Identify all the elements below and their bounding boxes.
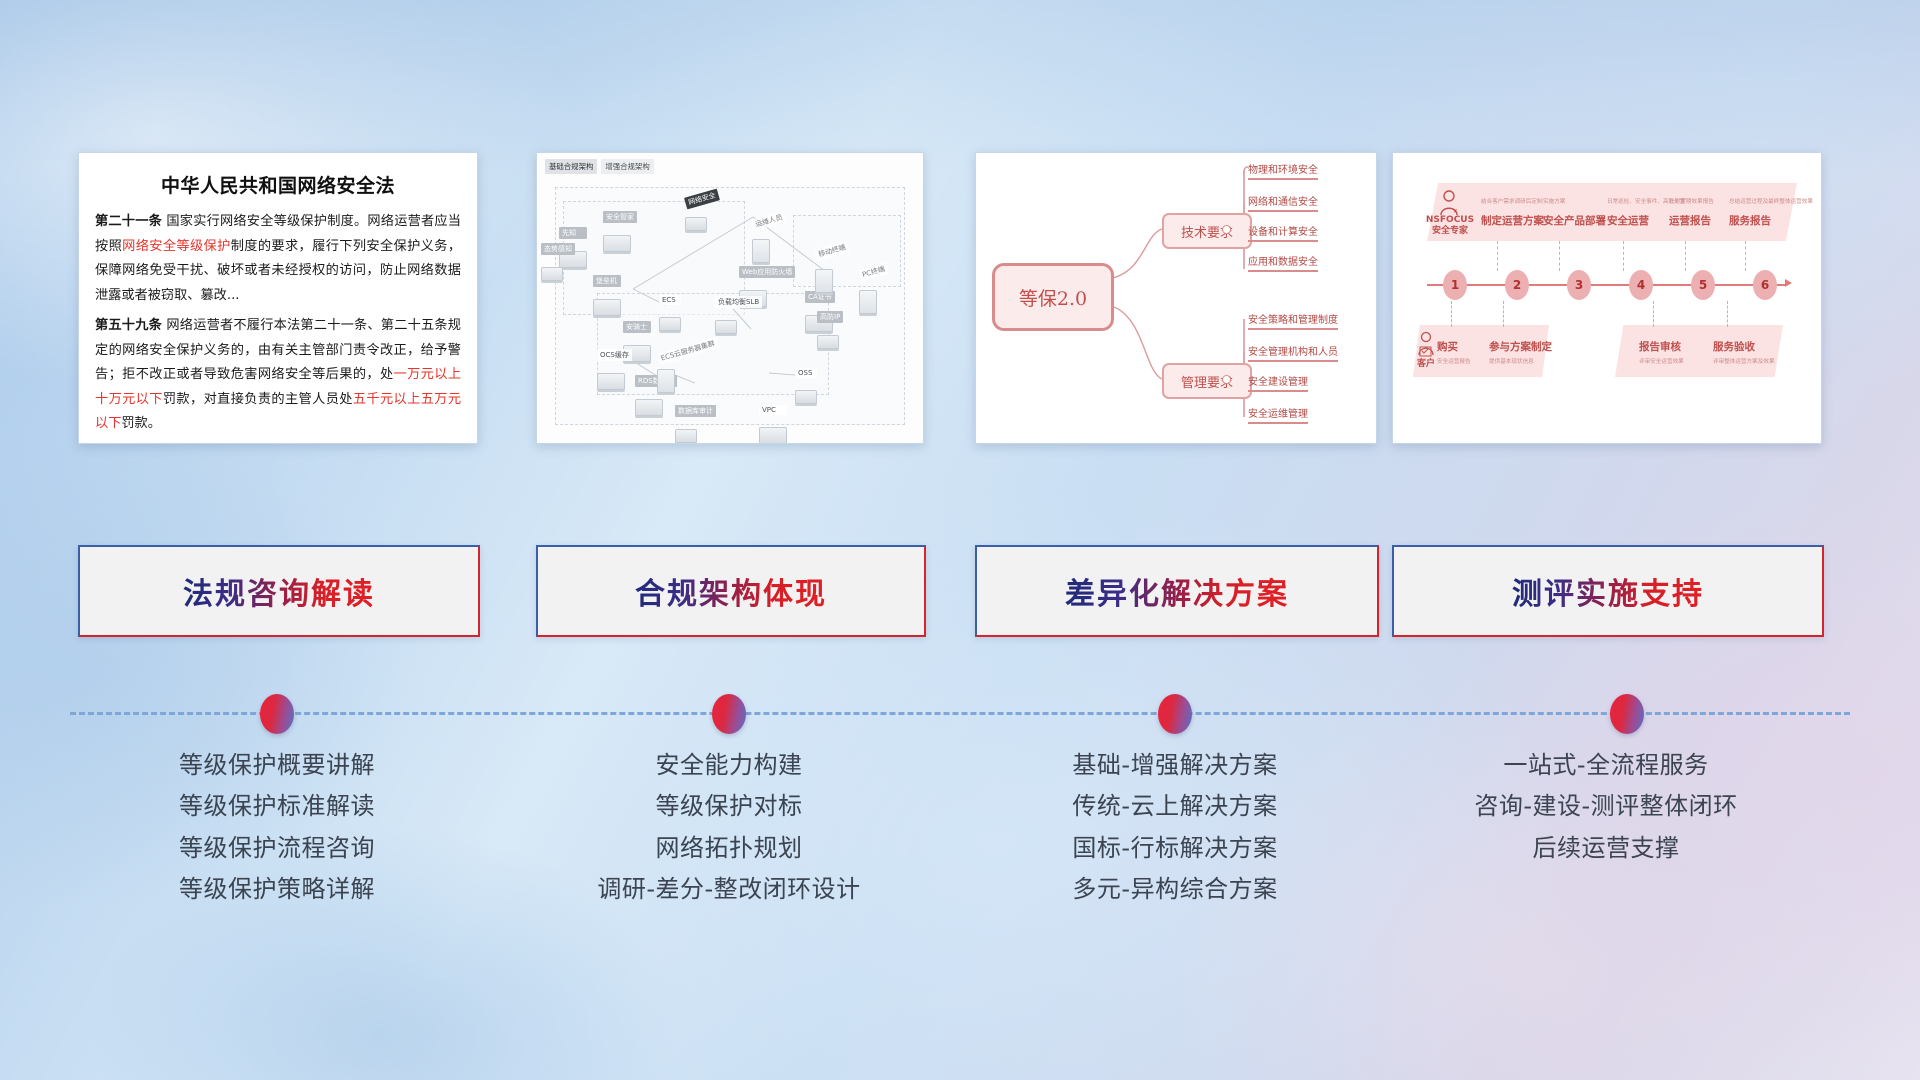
arch-node-icon-7 (597, 373, 625, 390)
law-article-21: 第二十一条 国家实行网络安全等级保护制度。网络运营者应当按照网络安全等级保护制度… (95, 210, 461, 308)
arch-tab-enhanced[interactable]: 增强合规架构 (601, 159, 653, 174)
stage-label-row: 法规咨询解读 合规架构体现 差异化解决方案 测评实施支持 (0, 545, 1920, 645)
arch-node-icon-4 (593, 299, 621, 316)
arch-node-icon-19 (759, 427, 787, 444)
stage-label-1[interactable]: 法规咨询解读 (78, 545, 480, 637)
mindmap-leaf-mgmt-1: 安全策略和管理制度 (1248, 311, 1338, 330)
arch-node-label-5: 安骑士 (623, 321, 651, 333)
article-59-part-4: 罚款。 (121, 416, 161, 431)
nsfocus-bottom-connector-2 (1653, 301, 1655, 327)
arch-node-9: 数据库审计 (675, 405, 716, 443)
arch-node-label-3: 态势感知 (541, 243, 575, 255)
nsfocus-top-heading-0: 制定运营方案 (1481, 213, 1544, 228)
arch-node-16: 移动终端 (815, 245, 849, 293)
arch-node-icon-0 (685, 217, 707, 231)
timeline-dot-3[interactable] (1158, 694, 1192, 734)
timeline-step-4[interactable]: 4 (1629, 270, 1653, 300)
nsfocus-bottom-heading-1: 参与方案制定 (1489, 339, 1552, 354)
arch-node-label-2: 先知 (559, 227, 587, 239)
arch-node-1: 安全管家 (603, 211, 637, 252)
arch-node-icon-13 (752, 239, 770, 263)
list-item: 调研-差分-整改闭环设计 (536, 869, 922, 910)
arch-node-19: VPC (759, 405, 787, 444)
nsfocus-bottom-sub-0: 安全运营报告 (1437, 357, 1471, 365)
mindmap-leaf-mgmt-4: 安全运维管理 (1248, 405, 1308, 424)
list-item: 后续运营支撑 (1392, 828, 1820, 869)
mindmap-branch-management: 管理要求 (1162, 363, 1252, 399)
nsfocus-top-connector-0 (1497, 241, 1499, 271)
nsfocus-diagram: NSFOCUS 安全专家 客户 123456制定运营方案结合客户需求调研后定制安… (1393, 153, 1821, 443)
stage-label-4[interactable]: 测评实施支持 (1392, 545, 1824, 637)
timeline-step-2[interactable]: 2 (1505, 270, 1529, 300)
mindmap-leaf-tech-3: 设备和计算安全 (1248, 223, 1318, 242)
arch-node-6: ECS (659, 295, 681, 331)
arch-node-icon-17 (859, 290, 877, 314)
arch-node-18: OSS (795, 368, 817, 404)
nsfocus-top-heading-1: 安全产品部署 (1543, 213, 1606, 228)
nsfocus-bottom-connector-1 (1503, 301, 1505, 327)
architecture-tabs: 基础合规架构 增强合规架构 (545, 159, 654, 174)
arch-node-17: PC终端 (859, 266, 888, 314)
nsfocus-top-connector-3 (1685, 241, 1687, 271)
nsfocus-top-heading-3: 运营报告 (1669, 213, 1711, 228)
nsfocus-bottom-sub-3: 评审整体运营方案及效果 (1713, 357, 1775, 365)
list-item: 网络拓扑规划 (536, 828, 922, 869)
stage-label-3[interactable]: 差异化解决方案 (975, 545, 1379, 637)
arch-node-15: 高防IP (817, 311, 843, 349)
mindmap-leaf-mgmt-3: 安全建设管理 (1248, 373, 1308, 392)
arch-node-icon-6 (659, 317, 681, 331)
timeline-arrow-icon (1785, 279, 1792, 287)
arch-node-label-11: Web应用防火墙 (739, 266, 795, 278)
progress-timeline (0, 694, 1920, 734)
arch-node-icon-12 (715, 320, 737, 334)
list-item: 等级保护对标 (536, 786, 922, 827)
timeline-dashed-line (70, 712, 1850, 715)
arch-node-13: 运维人员 (752, 215, 786, 263)
provider-logo-line1: NSFOCUS (1423, 215, 1477, 226)
arch-node-label-15: 高防IP (817, 311, 843, 323)
nsfocus-bottom-sub-1: 提供基本现状信息 (1489, 357, 1534, 365)
mindmap-leaf-tech-1: 物理和环境安全 (1248, 161, 1318, 180)
law-title: 中华人民共和国网络安全法 (95, 171, 461, 198)
timeline-dot-1[interactable] (260, 694, 294, 734)
arch-node-0: 网络安全 (685, 193, 719, 231)
arch-node-3: 态势感知 (541, 243, 575, 281)
arch-node-icon-1 (603, 235, 631, 252)
timeline-dot-2[interactable] (712, 694, 746, 734)
article-59-label: 第五十九条 (95, 318, 162, 333)
arch-node-icon-9 (675, 429, 697, 443)
list-item: 等级保护策略详解 (78, 869, 476, 910)
arch-node-icon-16 (815, 269, 833, 293)
detail-list-1: 等级保护概要讲解等级保护标准解读等级保护流程咨询等级保护策略详解 (78, 745, 476, 910)
timeline-step-3[interactable]: 3 (1567, 270, 1591, 300)
list-item: 等级保护概要讲解 (78, 745, 476, 786)
customer-person-icon (1415, 331, 1437, 359)
arch-node-10: ECS云服务器集群 (657, 345, 719, 393)
arch-node-label-7: OCS缓存 (597, 349, 632, 361)
article-21-part-1: 网络安全等级保护 (122, 239, 231, 254)
nsfocus-bottom-heading-3: 服务验收 (1713, 339, 1755, 354)
list-item: 多元-异构综合方案 (975, 869, 1375, 910)
nsfocus-top-connector-2 (1623, 241, 1625, 271)
card-nsfocus-timeline: NSFOCUS 安全专家 客户 123456制定运营方案结合客户需求调研后定制安… (1392, 152, 1822, 444)
nsfocus-top-heading-4: 服务报告 (1729, 213, 1771, 228)
list-item: 基础-增强解决方案 (975, 745, 1375, 786)
nsfocus-bottom-connector-0 (1451, 301, 1453, 327)
arch-node-icon-18 (795, 390, 817, 404)
arch-node-label-19: VPC (759, 405, 787, 415)
nsfocus-top-sub-1: 实施方案 (1543, 197, 1565, 205)
list-item: 咨询-建设-测评整体闭环 (1392, 786, 1820, 827)
mindmap-diagram: 等保2.0 技术要求 物理和环境安全 网络和通信安全 设备和计算安全 应用和数据… (976, 153, 1376, 443)
timeline-axis (1427, 284, 1787, 286)
arch-node-12: 负载均衡SLB (715, 296, 762, 334)
detail-list-row: 等级保护概要讲解等级保护标准解读等级保护流程咨询等级保护策略详解 安全能力构建等… (0, 745, 1920, 1005)
card-law-text: 中华人民共和国网络安全法 第二十一条 国家实行网络安全等级保护制度。网络运营者应… (78, 152, 478, 444)
arch-node-label-18: OSS (795, 368, 817, 378)
arch-node-label-1: 安全管家 (603, 211, 637, 223)
law-body: 中华人民共和国网络安全法 第二十一条 国家实行网络安全等级保护制度。网络运营者应… (79, 153, 477, 443)
provider-band (1427, 183, 1797, 241)
arch-node-label-9: 数据库审计 (675, 405, 716, 417)
nsfocus-top-sub-3: 针对定期效果报告 (1669, 197, 1714, 205)
nsfocus-bottom-heading-0: 购买 (1437, 339, 1458, 354)
list-item: 安全能力构建 (536, 745, 922, 786)
arch-node-7: OCS缓存 (597, 349, 632, 390)
timeline-step-1[interactable]: 1 (1443, 270, 1467, 300)
arch-node-icon-15 (817, 335, 839, 349)
nsfocus-top-connector-1 (1559, 241, 1561, 271)
detail-list-3: 基础-增强解决方案传统-云上解决方案国标-行标解决方案多元-异构综合方案 (975, 745, 1375, 910)
detail-list-4: 一站式-全流程服务咨询-建设-测评整体闭环后续运营支撑 (1392, 745, 1820, 869)
list-item: 传统-云上解决方案 (975, 786, 1375, 827)
arch-node-4: 堡垒机 (593, 275, 621, 316)
mindmap-dot-technical (1222, 225, 1231, 234)
card-row: 中华人民共和国网络安全法 第二十一条 国家实行网络安全等级保护制度。网络运营者应… (0, 0, 1920, 460)
timeline-step-6[interactable]: 6 (1753, 270, 1777, 300)
mindmap-leaf-mgmt-2: 安全管理机构和人员 (1248, 343, 1338, 362)
arch-node-icon-8 (635, 399, 663, 416)
stage-label-2-text: 合规架构体现 (635, 569, 827, 613)
nsfocus-bottom-sub-2: 评审安全运营效果 (1639, 357, 1684, 365)
mindmap-leaf-tech-2: 网络和通信安全 (1248, 193, 1318, 212)
mindmap-branch-technical: 技术要求 (1162, 213, 1252, 249)
nsfocus-top-sub-4: 总结运营过程及最终整体运营效果 (1729, 197, 1813, 205)
article-59-text: 网络运营者不履行本法第二十一条、第二十五条规定的网络安全保护义务的，由有关主管部… (95, 318, 461, 431)
arch-node-label-17: PC终端 (858, 262, 889, 282)
customer-logo-label: 客户 (1413, 359, 1439, 370)
nsfocus-top-connector-4 (1745, 241, 1747, 271)
list-item: 国标-行标解决方案 (975, 828, 1375, 869)
article-59-part-2: 罚款，对直接负责的主管人员处 (163, 392, 353, 407)
article-21-label: 第二十一条 (95, 214, 162, 229)
nsfocus-bottom-connector-3 (1727, 301, 1729, 327)
stage-label-3-text: 差异化解决方案 (1065, 569, 1289, 613)
provider-logo-line2: 安全专家 (1423, 226, 1477, 237)
stage-label-1-text: 法规咨询解读 (183, 569, 375, 613)
stage-label-2[interactable]: 合规架构体现 (536, 545, 926, 637)
timeline-step-5[interactable]: 5 (1691, 270, 1715, 300)
arch-tab-basic[interactable]: 基础合规架构 (545, 159, 597, 174)
arch-node-label-6: ECS (659, 295, 681, 305)
arch-node-label-12: 负载均衡SLB (715, 296, 762, 308)
list-item: 一站式-全流程服务 (1392, 745, 1820, 786)
card-cloud-architecture: 基础合规架构 增强合规架构 网络安全安全管家先知态势感知堡垒机安骑士ECSOCS… (536, 152, 924, 444)
detail-list-2: 安全能力构建等级保护对标网络拓扑规划调研-差分-整改闭环设计 (536, 745, 922, 910)
nsfocus-bottom-heading-2: 报告审核 (1639, 339, 1681, 354)
list-item: 等级保护流程咨询 (78, 828, 476, 869)
nsfocus-top-heading-2: 安全运营 (1607, 213, 1649, 228)
law-article-59: 第五十九条 网络运营者不履行本法第二十一条、第二十五条规定的网络安全保护义务的，… (95, 314, 461, 437)
mindmap-leaf-tech-4: 应用和数据安全 (1248, 253, 1318, 272)
nsfocus-top-sub-0: 结合客户需求调研后定制 (1481, 197, 1543, 205)
mindmap-root-node: 等保2.0 (992, 263, 1114, 331)
card-mindmap: 等保2.0 技术要求 物理和环境安全 网络和通信安全 设备和计算安全 应用和数据… (975, 152, 1377, 444)
mindmap-dot-management (1222, 375, 1231, 384)
list-item: 等级保护标准解读 (78, 786, 476, 827)
architecture-diagram: 基础合规架构 增强合规架构 网络安全安全管家先知态势感知堡垒机安骑士ECSOCS… (537, 153, 923, 443)
arch-node-label-4: 堡垒机 (593, 275, 621, 287)
customer-logo: 客户 (1413, 359, 1439, 370)
arch-node-icon-10 (657, 369, 675, 393)
arch-node-icon-3 (541, 267, 563, 281)
stage-label-4-text: 测评实施支持 (1512, 569, 1704, 613)
timeline-dot-4[interactable] (1610, 694, 1644, 734)
provider-logo: NSFOCUS 安全专家 (1423, 215, 1477, 236)
